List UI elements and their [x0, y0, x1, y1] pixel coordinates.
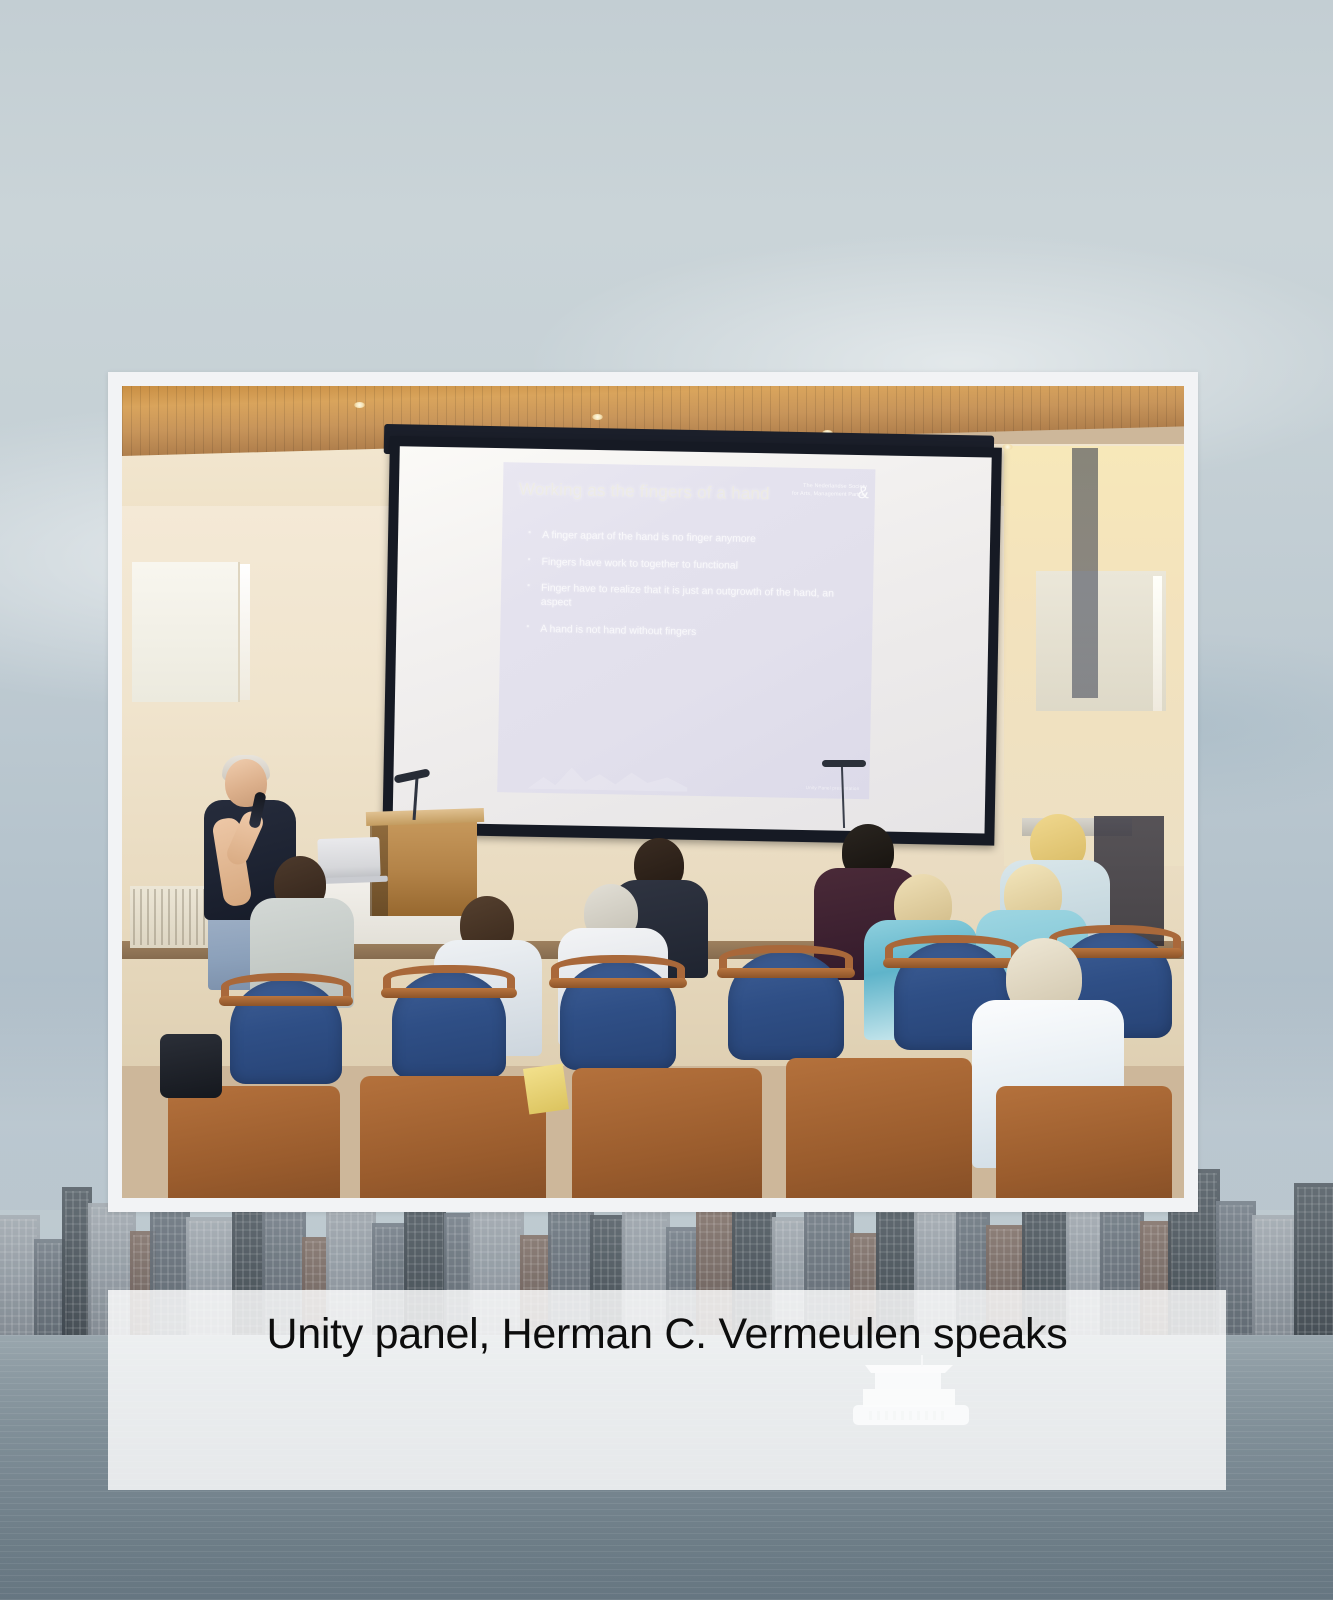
ceiling-light [1002, 444, 1013, 450]
slide-footer: Unity Panel presentation [806, 785, 860, 791]
dark-wall-column [1072, 448, 1098, 698]
slide-bullet: A hand is not hand without fingers [524, 623, 862, 643]
page-root: The Nederlandse Society for Arts, Manage… [0, 0, 1333, 1600]
front-chair [996, 1086, 1172, 1198]
right-wall-panel [1036, 571, 1166, 711]
slide-bullet: Finger have to realize that it is just a… [525, 582, 863, 616]
caption-text: Unity panel, Herman C. Vermeulen speaks [267, 1310, 1068, 1359]
slide-decorative-graphic [527, 755, 688, 792]
right-wall-strip [1153, 576, 1162, 711]
audience-chair [728, 952, 844, 1060]
front-chair [168, 1086, 340, 1198]
floor-bag [160, 1034, 222, 1098]
slide-logo-mark-icon: & [853, 483, 869, 505]
side-mic-icon [822, 760, 866, 767]
slide-title: Working as the fingers of a hand [519, 480, 779, 504]
conference-photo: The Nederlandse Society for Arts, Manage… [122, 386, 1184, 1198]
ceiling-light [354, 402, 365, 408]
ceiling-light [592, 414, 603, 420]
caption-bar: Unity panel, Herman C. Vermeulen speaks [108, 1290, 1226, 1490]
slide-bullet-list: A finger apart of the hand is no finger … [524, 529, 864, 656]
slide-logo: The Nederlandse Society for Arts, Manage… [781, 482, 867, 500]
projection-screen: The Nederlandse Society for Arts, Manage… [382, 436, 1002, 846]
audience-chair [560, 962, 676, 1070]
slide-bullet: Fingers have work to together to functio… [525, 555, 863, 575]
audience-chair [230, 980, 342, 1084]
front-chair [572, 1068, 762, 1198]
projected-slide: The Nederlandse Society for Arts, Manage… [497, 462, 875, 799]
yellow-notebook [523, 1063, 569, 1114]
audience-chair [392, 972, 506, 1078]
front-chair [786, 1058, 972, 1198]
front-chair [360, 1076, 546, 1198]
laptop [317, 837, 380, 879]
slide-bullet: A finger apart of the hand is no finger … [526, 529, 864, 549]
photo-card: The Nederlandse Society for Arts, Manage… [108, 372, 1198, 1212]
screen-surface: The Nederlandse Society for Arts, Manage… [393, 446, 992, 833]
left-window-strip [240, 564, 250, 700]
left-window [132, 562, 240, 702]
